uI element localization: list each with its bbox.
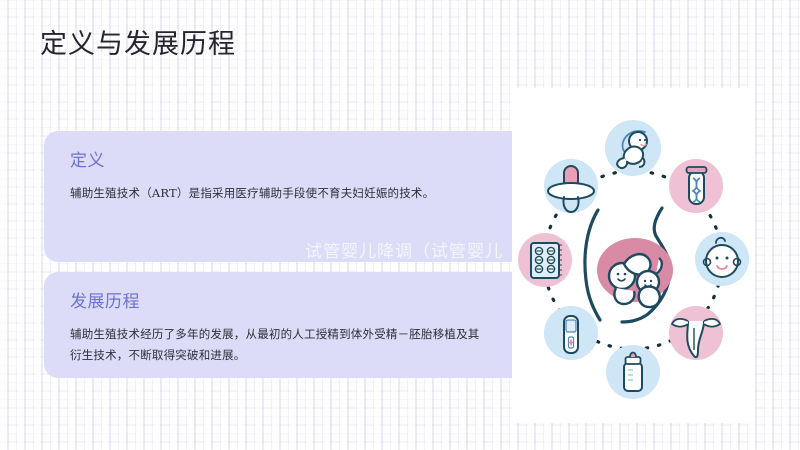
baby-bottle-icon xyxy=(606,345,660,399)
baby-face-icon xyxy=(695,232,749,286)
card-body: 辅助生殖技术（ART）是指采用医疗辅助手段使不育夫妇妊娠的技术。 xyxy=(70,183,480,204)
card-body: 辅助生殖技术经历了多年的发展，从最初的人工授精到体外受精－胚胎移植及其衍生技术，… xyxy=(70,324,480,366)
card-heading: 定义 xyxy=(70,149,486,173)
slide-root: 定义与发展历程 定义 辅助生殖技术（ART）是指采用医疗辅助手段使不育夫妇妊娠的… xyxy=(0,0,800,450)
content-card-history: 发展历程 辅助生殖技术经历了多年的发展，从最初的人工授精到体外受精－胚胎移植及其… xyxy=(44,272,512,378)
fetus-icon xyxy=(605,120,661,176)
pacifier-icon xyxy=(544,159,598,213)
card-heading: 发展历程 xyxy=(70,290,486,314)
art-cycle-illustration xyxy=(512,88,755,423)
pregnancy-test-icon xyxy=(544,306,598,360)
content-card-definition: 定义 辅助生殖技术（ART）是指采用医疗辅助手段使不育夫妇妊娠的技术。 xyxy=(44,131,512,262)
uterus-icon xyxy=(669,306,723,360)
illustration-panel xyxy=(512,88,755,423)
dna-test-tube-icon xyxy=(669,159,723,213)
page-title: 定义与发展历程 xyxy=(40,28,236,62)
pregnant-belly-with-twins xyxy=(585,208,673,322)
pill-blister-pack-icon xyxy=(518,233,572,287)
